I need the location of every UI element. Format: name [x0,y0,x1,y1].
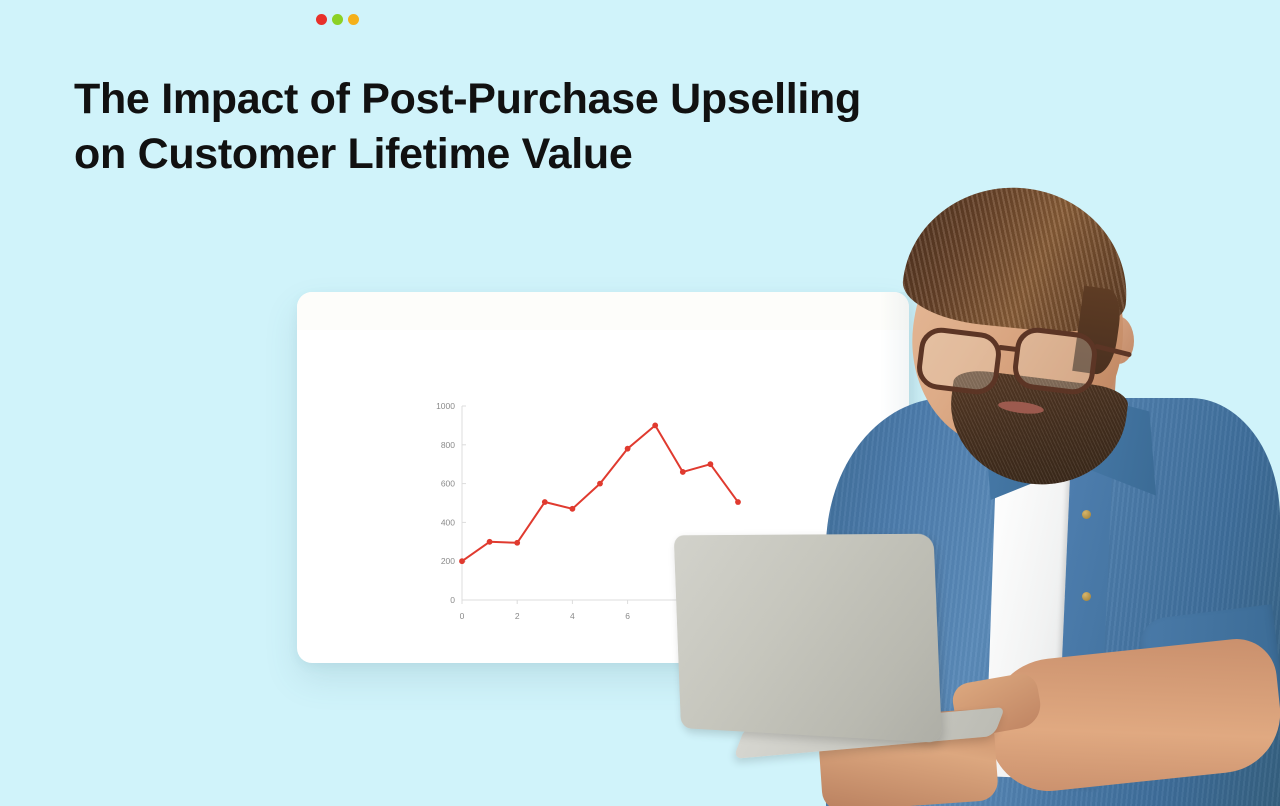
shirt-button [1082,510,1091,519]
svg-text:800: 800 [441,440,455,450]
window-close-dot[interactable] [316,14,327,25]
page-title: The Impact of Post-Purchase Upselling on… [74,72,1054,182]
svg-text:6: 6 [625,611,630,621]
svg-text:200: 200 [441,556,455,566]
window-maximize-dot[interactable] [348,14,359,25]
svg-text:0: 0 [450,595,455,605]
y-axis: 02004006008001000 [436,401,466,605]
window-minimize-dot[interactable] [332,14,343,25]
laptop-lid [674,534,942,743]
laptop [652,533,1000,771]
eyeglasses-lens-left [915,325,1004,397]
svg-text:400: 400 [441,517,455,527]
svg-text:4: 4 [570,611,575,621]
svg-text:1000: 1000 [436,401,455,411]
svg-text:2: 2 [515,611,520,621]
svg-text:600: 600 [441,479,455,489]
shirt-button [1082,592,1091,601]
eyeglasses-lens-right [1011,325,1100,397]
svg-text:0: 0 [460,611,465,621]
